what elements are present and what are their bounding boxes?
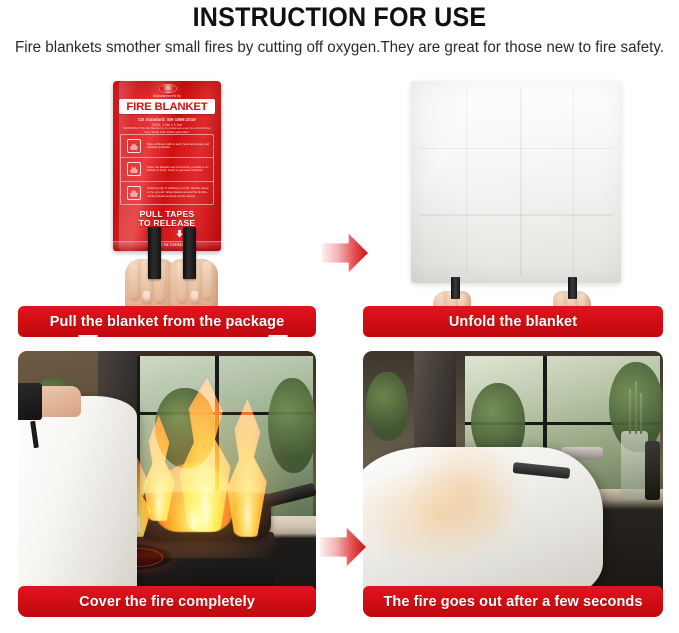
package-standard: CE Standard: EN-1869:2019 <box>120 117 214 122</box>
blanket-crease <box>520 89 522 275</box>
blanket-pull-icon <box>124 136 144 156</box>
package-down-arrows <box>113 229 221 238</box>
pull-tape-left <box>148 227 161 279</box>
kitchen-plant <box>268 378 316 474</box>
step-2-caption: Unfold the blanket <box>363 306 663 337</box>
finger <box>202 261 213 301</box>
bottle <box>645 441 660 500</box>
package-bottom-hem <box>113 241 221 251</box>
plant-stem <box>635 381 637 434</box>
step-1-image: Manufactured by FIRE BLANKET CE Standard… <box>18 69 316 337</box>
step-panel-4: The fire goes out after a few seconds <box>363 351 663 617</box>
fire-blanket-package: Manufactured by FIRE BLANKET CE Standard… <box>113 81 221 251</box>
page-subtitle: Fire blankets smother small fires by cut… <box>5 39 674 57</box>
package-pull-tapes-text: PULL TAPES TO RELEASE <box>119 210 215 228</box>
unfolded-fire-blanket <box>411 81 621 283</box>
step-panel-3: Cover the fire completely <box>18 351 316 617</box>
step-panel-1: Manufactured by FIRE BLANKET CE Standard… <box>18 69 316 337</box>
fingernail <box>143 291 150 300</box>
sleeve <box>18 383 42 420</box>
blanket-wrap-icon <box>124 183 144 203</box>
step-3-caption: Cover the fire completely <box>18 586 316 617</box>
blanket-crease <box>419 148 612 150</box>
blanket-crease <box>466 89 468 275</box>
step-panel-2: Unfold the blanket <box>363 69 663 337</box>
package-instruction-box: Take a fibrous cloth in each hand and sl… <box>120 134 214 205</box>
arrow-down-icon <box>176 230 183 238</box>
flower-vase <box>621 431 648 500</box>
plant-stem <box>640 393 642 433</box>
blanket-cover-icon <box>124 159 144 179</box>
package-instruction-row: Take a fibrous cloth in each hand and sl… <box>121 135 213 158</box>
pull-tape-left <box>451 277 460 299</box>
package-title: FIRE BLANKET <box>119 99 215 114</box>
pull-tape-right <box>568 277 577 299</box>
arrow-right-icon <box>320 527 366 567</box>
plant-stem <box>629 389 631 433</box>
flame <box>155 463 232 532</box>
blanket-crease <box>573 89 575 275</box>
package-instruction-row: Place the blanket over the fire/fire you… <box>121 158 213 181</box>
step-1-caption: Pull the blanket from the package <box>18 306 316 337</box>
fingernail <box>191 291 198 300</box>
finger <box>129 261 140 301</box>
package-instruction-text: Clothing only: If clothing is on fire, b… <box>147 187 210 198</box>
package-instruction-text: Take a fibrous cloth in each hand and sl… <box>147 143 210 150</box>
fire-blanket-held <box>18 396 137 603</box>
step-2-image <box>363 69 663 337</box>
step-4-image <box>363 351 663 617</box>
package-instruction-text: Place the blanket over the fire/fire you… <box>147 166 210 173</box>
package-instruction-row: Clothing only: If clothing is on fire, b… <box>121 182 213 204</box>
step-4-caption: The fire goes out after a few seconds <box>363 586 663 617</box>
blanket-crease <box>419 214 612 216</box>
instruction-steps-grid: Manufactured by FIRE BLANKET CE Standard… <box>0 65 679 625</box>
arrow-right-icon <box>322 233 368 273</box>
package-hang-hole <box>159 84 177 93</box>
page-title: INSTRUCTION FOR USE <box>24 0 655 32</box>
package-brand-text: Manufactured by <box>113 94 221 98</box>
kitchen-plant <box>366 372 408 441</box>
pull-tape-right <box>183 227 196 279</box>
step-3-image <box>18 351 316 617</box>
